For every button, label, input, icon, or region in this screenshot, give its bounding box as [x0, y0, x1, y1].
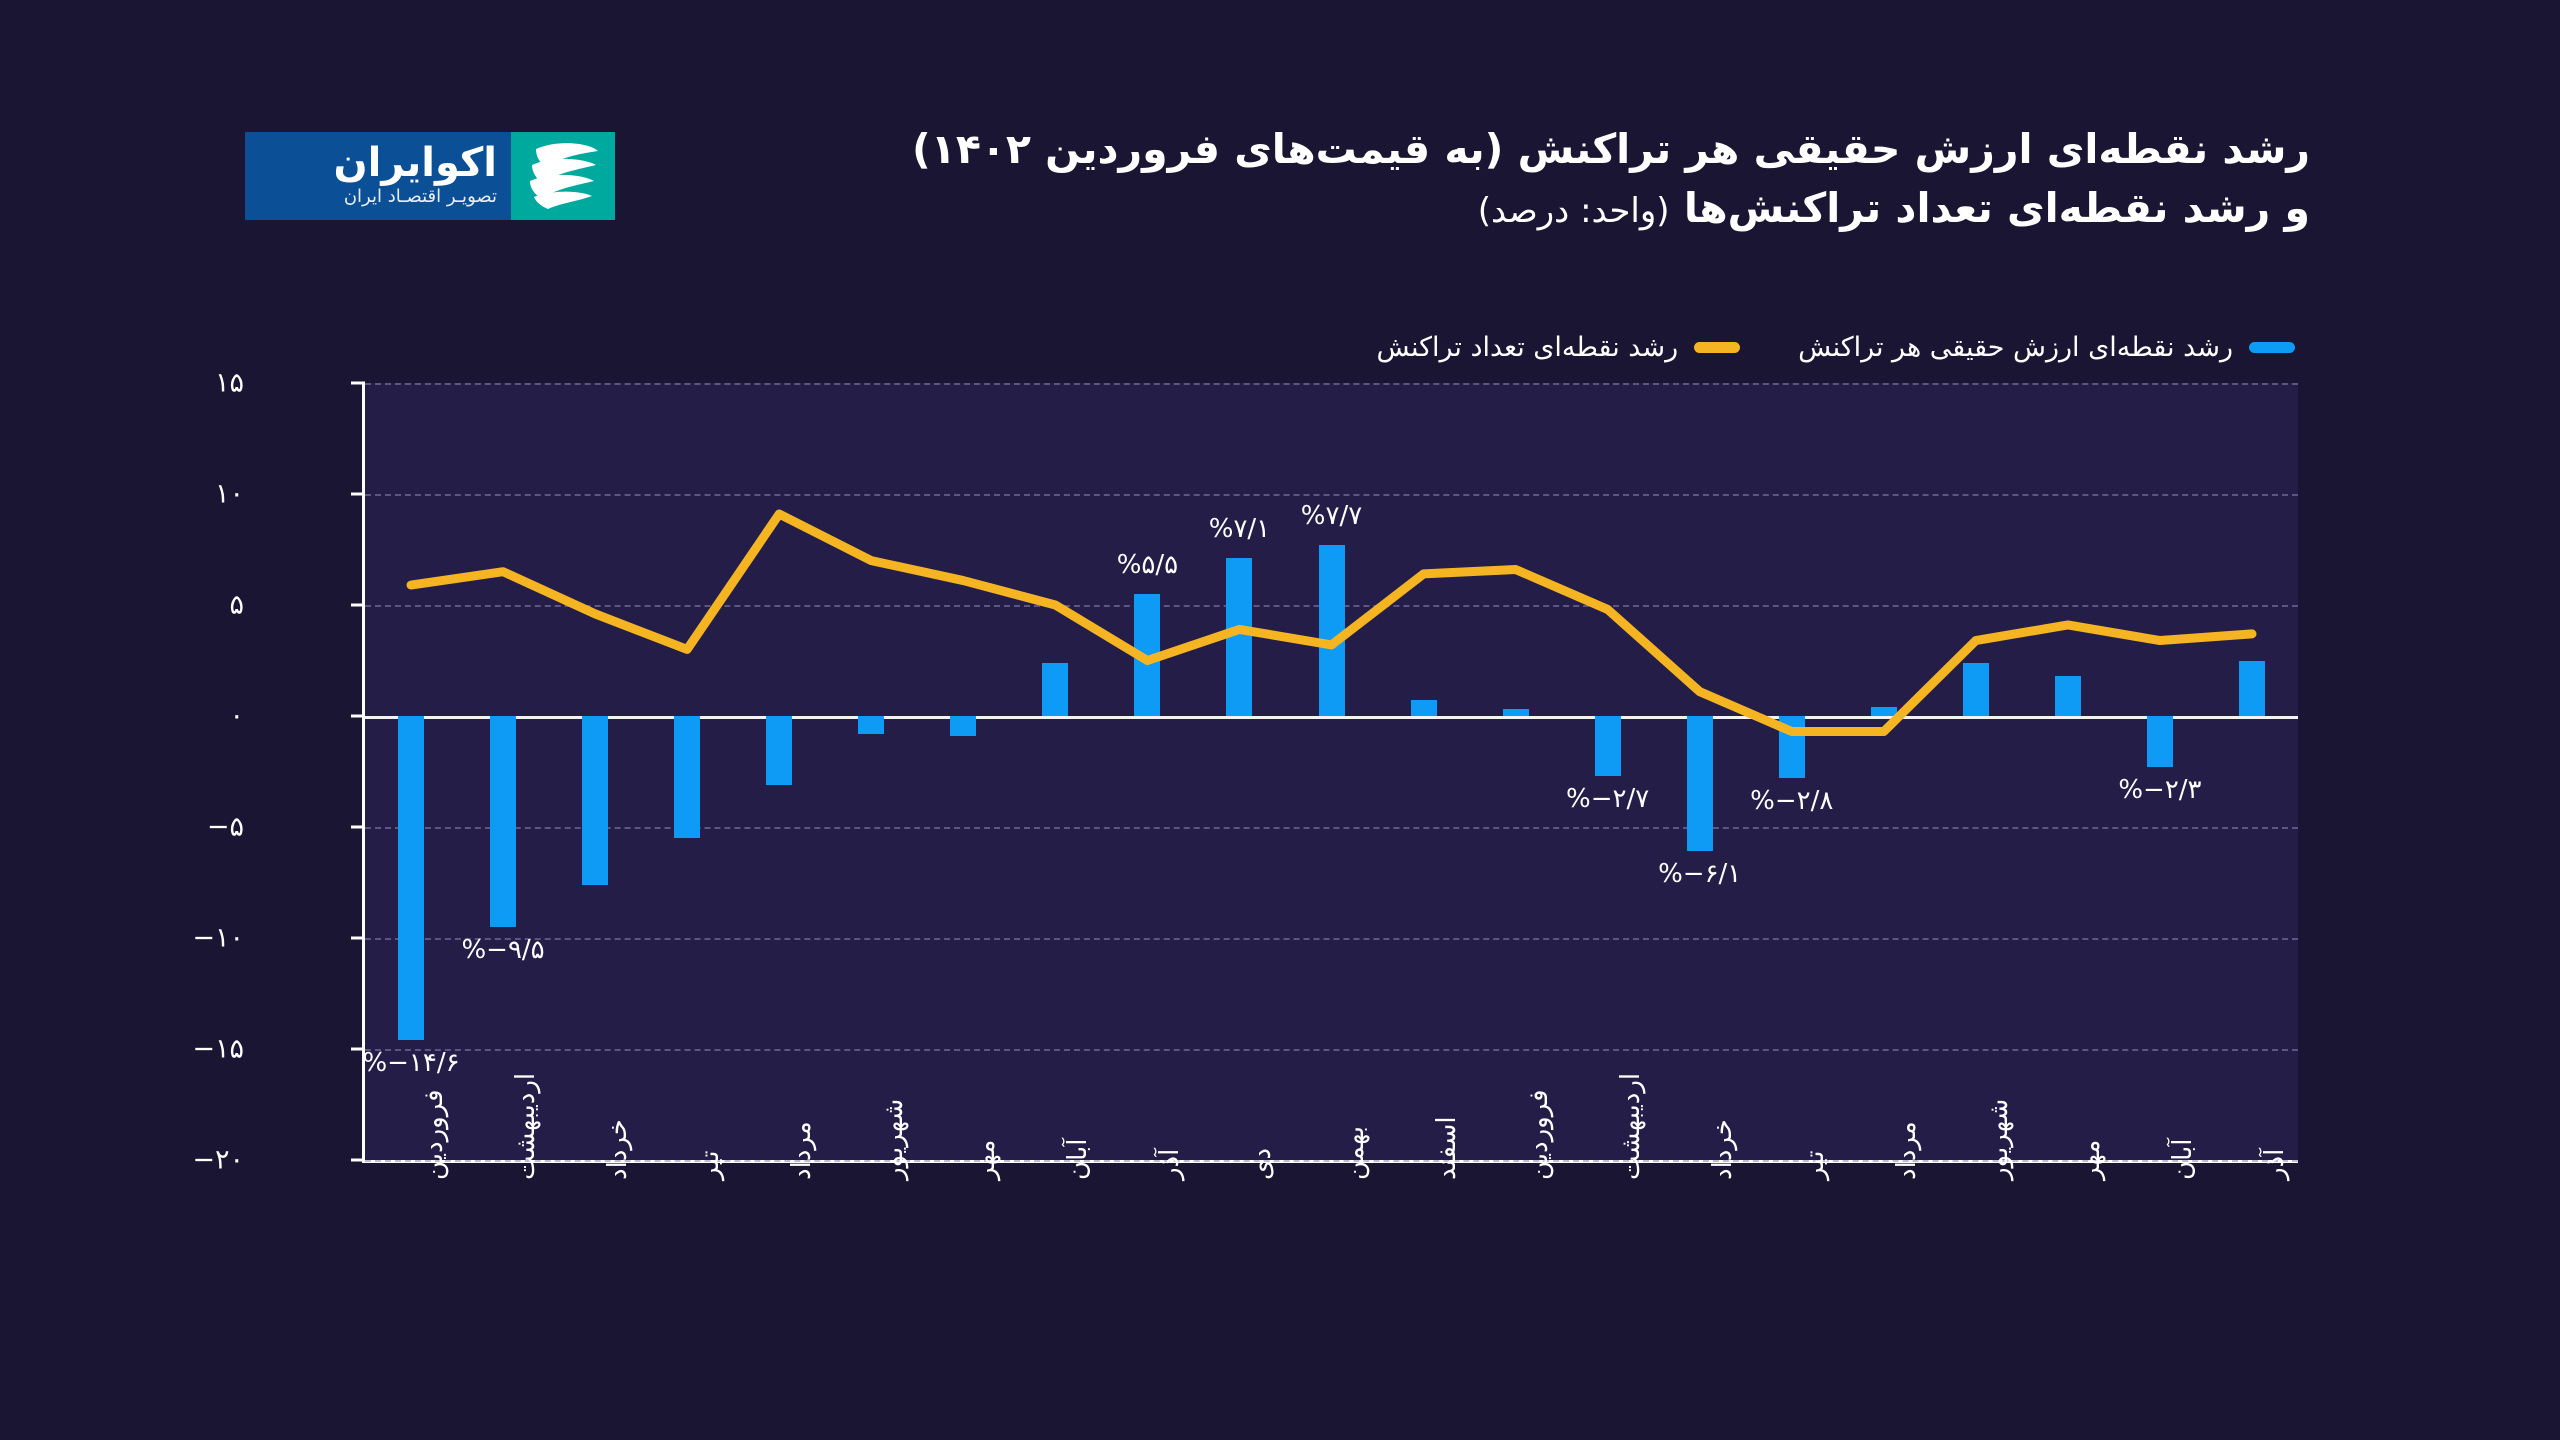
- chart-legend: رشد نقطه‌ای ارزش حقیقی هر تراکنشرشد نقطه…: [1377, 332, 2295, 363]
- chart-title-line2-main: و رشد نقطه‌ای تعداد تراکنش‌ها: [1684, 184, 2310, 232]
- y-axis-tick-label: −۲۰: [192, 1145, 244, 1176]
- y-axis-tick-mark: [351, 604, 365, 607]
- x-axis-tick-label: تیر: [695, 1151, 725, 1180]
- y-axis-tick-mark: [351, 1159, 365, 1162]
- x-axis-tick-label: خرداد: [1708, 1119, 1738, 1180]
- x-axis-tick-label: آذر: [1155, 1149, 1185, 1180]
- x-axis-tick-label: اسفند: [1432, 1116, 1462, 1180]
- brand-tagline: تصویـر اقتصـاد ایران: [344, 184, 497, 209]
- x-axis-tick-label: آذر: [2260, 1149, 2290, 1180]
- y-axis-tick-mark: [351, 826, 365, 829]
- x-axis-tick-label: فروردین: [1524, 1090, 1554, 1181]
- brand-name: اکوایران: [333, 142, 497, 184]
- legend-item-1: رشد نقطه‌ای تعداد تراکنش: [1377, 332, 1741, 363]
- x-axis-tick-label: آبان: [1063, 1139, 1093, 1180]
- x-axis-tick-label: شهریور: [879, 1099, 909, 1180]
- x-axis-tick-label: خرداد: [603, 1119, 633, 1180]
- x-axis-tick-label: تیر: [1800, 1151, 1830, 1180]
- y-axis-tick-label: −۱۵: [192, 1034, 244, 1065]
- brand-wordmark: اکوایران تصویـر اقتصـاد ایران: [245, 132, 511, 220]
- y-axis-tick-mark: [351, 715, 365, 718]
- x-axis-tick-label: بهمن: [1340, 1126, 1370, 1180]
- chart-unit-label: (واحد: درصد): [1478, 191, 1670, 231]
- x-axis-tick-label: شهریور: [1984, 1099, 2014, 1180]
- x-axis-tick-label: دی: [1247, 1148, 1277, 1180]
- x-axis-tick-label: مهر: [2076, 1140, 2106, 1180]
- x-axis-tick-label: آبان: [2168, 1139, 2198, 1180]
- brand-logo: اکوایران تصویـر اقتصـاد ایران: [245, 132, 615, 220]
- x-axis-tick-label: اردیبهشت: [1616, 1073, 1646, 1180]
- x-axis-tick-label: اردیبهشت: [511, 1073, 541, 1180]
- y-axis-tick-label: ۰: [229, 701, 244, 732]
- legend-label: رشد نقطه‌ای ارزش حقیقی هر تراکنش: [1798, 332, 2233, 363]
- transaction-count-line: [365, 383, 2298, 1160]
- x-axis-tick-label: فروردین: [419, 1090, 449, 1181]
- x-axis-tick-label: مرداد: [787, 1121, 817, 1180]
- leaf-swoosh-icon: [511, 132, 615, 220]
- y-axis-tick-label: ۵: [229, 590, 244, 621]
- legend-label: رشد نقطه‌ای تعداد تراکنش: [1377, 332, 1679, 363]
- chart-plot-area: %−۱۴/۶%−۹/۵%۵/۵%۷/۱%۷/۷%−۲/۷%−۶/۱%−۲/۸%−…: [362, 383, 2298, 1163]
- legend-line-swatch: [1694, 342, 1740, 353]
- chart-title-block: رشد نقطه‌ای ارزش حقیقی هر تراکنش (به قیم…: [610, 120, 2310, 239]
- y-axis-tick-mark: [351, 937, 365, 940]
- x-axis-tick-label: مهر: [971, 1140, 1001, 1180]
- y-axis-tick-label: −۵: [207, 812, 244, 843]
- y-axis-tick-mark: [351, 382, 365, 385]
- chart-title-line1: رشد نقطه‌ای ارزش حقیقی هر تراکنش (به قیم…: [610, 120, 2310, 179]
- legend-item-0: رشد نقطه‌ای ارزش حقیقی هر تراکنش: [1798, 332, 2295, 363]
- y-axis-tick-label: −۱۰: [192, 923, 244, 954]
- y-axis-tick-mark: [351, 493, 365, 496]
- y-axis-tick-label: ۱۵: [215, 368, 244, 399]
- x-axis-tick-label: مرداد: [1892, 1121, 1922, 1180]
- legend-bar-swatch: [2249, 342, 2295, 353]
- chart-title-line2: و رشد نقطه‌ای تعداد تراکنش‌ها (واحد: درص…: [610, 179, 2310, 238]
- y-axis-tick-label: ۱۰: [215, 479, 244, 510]
